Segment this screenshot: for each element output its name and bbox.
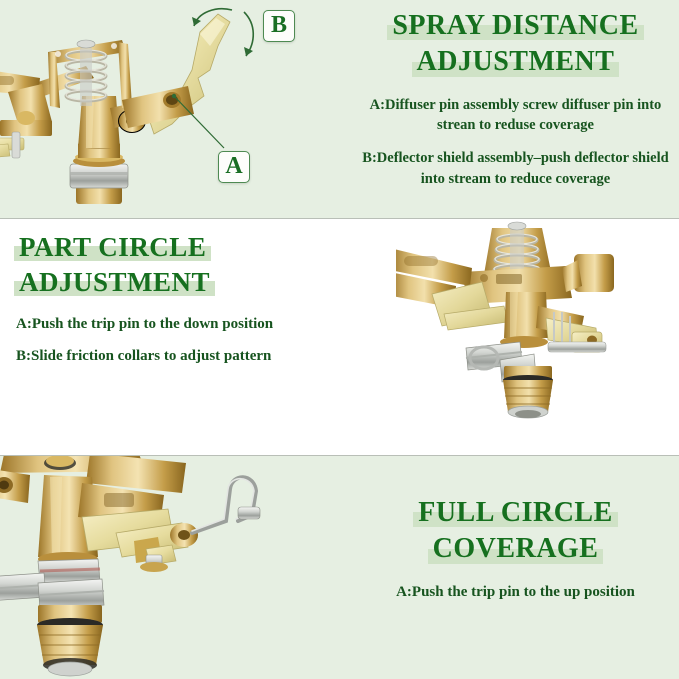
- spray-distance-body-b: B:Deflector shield assembly–push deflect…: [358, 148, 673, 189]
- part-circle-title: PART CIRCLE ADJUSTMENT: [16, 230, 330, 300]
- title-line-2: ADJUSTMENT: [16, 265, 213, 300]
- title-line-1: SPRAY DISTANCE: [389, 8, 641, 44]
- full-circle-body-a: A:Push the trip pin to the up position: [358, 582, 673, 603]
- part-circle-body-b: B:Slide friction collars to adjust patte…: [16, 346, 330, 367]
- panel-full-circle: A FULL CIRCLE COVERAGE A:Push the trip p…: [0, 455, 679, 679]
- spray-distance-title: SPRAY DISTANCE ADJUSTMENT: [358, 8, 673, 81]
- part-circle-body-a: A:Push the trip pin to the down position: [16, 314, 330, 335]
- spray-distance-body-a: A:Diffuser pin assembly screw diffuser p…: [358, 95, 673, 136]
- sprinkler-image-full-circle: [0, 455, 296, 679]
- title-line-1: PART CIRCLE: [16, 230, 209, 265]
- panel-divider-2: [0, 455, 679, 456]
- part-circle-text-block: PART CIRCLE ADJUSTMENT A:Push the trip p…: [8, 230, 338, 378]
- callout-badge-a: A: [218, 151, 250, 183]
- title-line-1: FULL CIRCLE: [415, 495, 616, 531]
- sprinkler-image-part-circle: [396, 220, 671, 450]
- callout-badge-b: B: [263, 10, 295, 42]
- full-circle-title: FULL CIRCLE COVERAGE: [358, 495, 673, 568]
- panel-part-circle: PART CIRCLE ADJUSTMENT A:Push the trip p…: [0, 218, 679, 455]
- sprinkler-image-spray-distance: [0, 4, 282, 218]
- title-line-2: COVERAGE: [430, 531, 602, 567]
- panel-divider-1: [0, 218, 679, 219]
- full-circle-text-block: FULL CIRCLE COVERAGE A:Push the trip pin…: [352, 495, 679, 603]
- panel-spray-distance: B A SPRAY DISTANCE ADJUSTMENT A:Diffuser…: [0, 0, 679, 218]
- spray-distance-text-block: SPRAY DISTANCE ADJUSTMENT A:Diffuser pin…: [352, 8, 679, 189]
- title-line-2: ADJUSTMENT: [414, 44, 618, 80]
- infographic-sheet: B A SPRAY DISTANCE ADJUSTMENT A:Diffuser…: [0, 0, 679, 679]
